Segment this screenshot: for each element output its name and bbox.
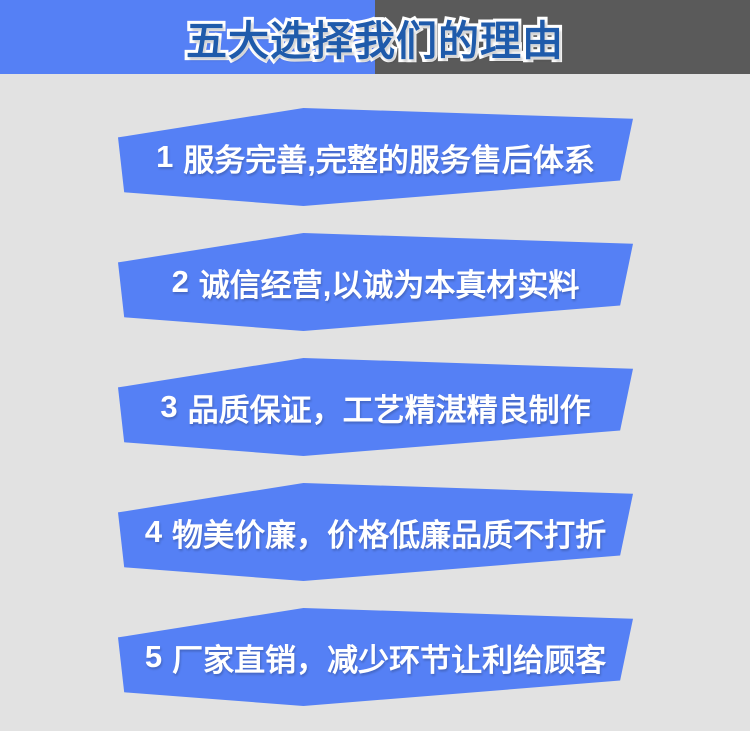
reason-banner-2: 2 诚信经营,以诚为本真材实料 (0, 227, 750, 352)
page-title: 五大选择我们的理由 (0, 0, 750, 74)
reason-banner-5: 5 厂家直销，减少环节让利给顾客 (0, 602, 750, 727)
reason-index: 4 (145, 514, 162, 550)
reason-index: 5 (145, 639, 162, 675)
reason-label: 厂家直销，减少环节让利给顾客 (172, 635, 606, 680)
reason-label: 物美价廉，价格低廉品质不打折 (172, 510, 606, 555)
reason-banner-4: 4 物美价廉，价格低廉品质不打折 (0, 477, 750, 602)
reason-banner-text: 4 物美价廉，价格低廉品质不打折 (118, 483, 633, 581)
reason-banner-text: 2 诚信经营,以诚为本真材实料 (118, 233, 633, 331)
reason-banner-text: 5 厂家直销，减少环节让利给顾客 (118, 608, 633, 706)
reason-banner-text: 1 服务完善,完整的服务售后体系 (118, 108, 633, 206)
reason-index: 1 (156, 139, 173, 175)
reason-label: 服务完善,完整的服务售后体系 (183, 135, 595, 180)
reason-index: 2 (172, 264, 189, 300)
reason-banner-3: 3 品质保证，工艺精湛精良制作 (0, 352, 750, 477)
reason-banner-list: 1 服务完善,完整的服务售后体系 2 诚信经营,以诚为本真材实料 3 品质保证，… (0, 74, 750, 731)
page-header: 五大选择我们的理由 (0, 0, 750, 74)
reason-label: 品质保证，工艺精湛精良制作 (188, 385, 591, 430)
reason-label: 诚信经营,以诚为本真材实料 (199, 260, 580, 305)
reason-banner-1: 1 服务完善,完整的服务售后体系 (0, 102, 750, 227)
reason-banner-text: 3 品质保证，工艺精湛精良制作 (118, 358, 633, 456)
reason-index: 3 (160, 389, 177, 425)
